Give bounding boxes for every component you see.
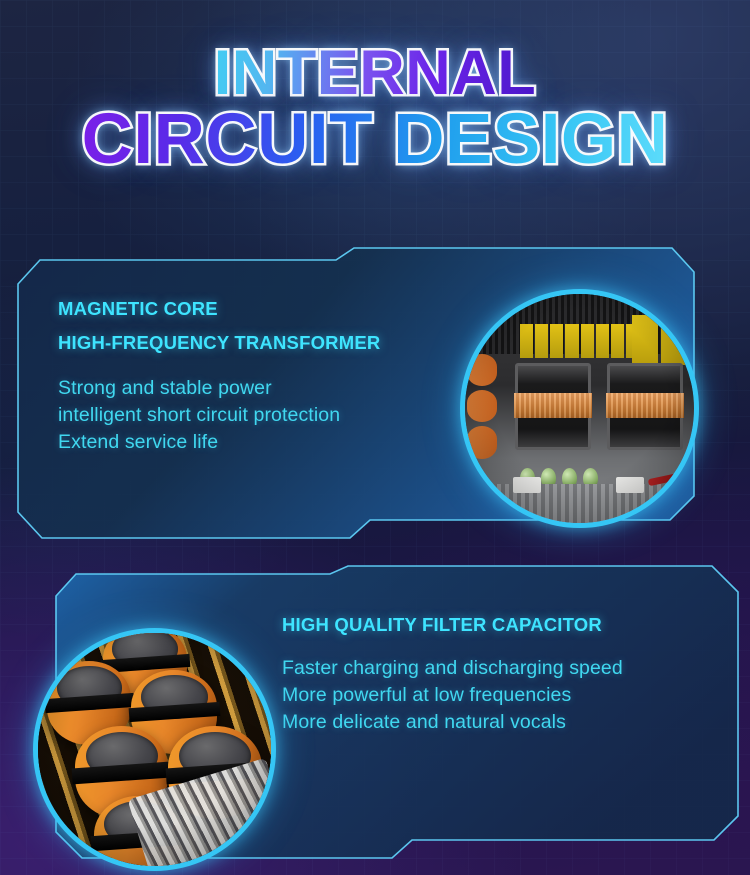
capacitor-photo	[38, 633, 271, 866]
page-title: INTERNAL INTERNAL CIRCUIT DESIGN CIRCUIT…	[0, 44, 750, 173]
title-line-1-text: INTERNAL	[214, 44, 536, 104]
capacitor-bullet-3: More delicate and natural vocals	[282, 709, 722, 736]
title-line-2: CIRCUIT DESIGN CIRCUIT DESIGN	[0, 106, 750, 173]
transformer-heading-1: MAGNETIC CORE	[58, 298, 488, 320]
transformer-bullets: Strong and stable power intelligent shor…	[58, 375, 488, 456]
transformer-photo-image	[465, 294, 694, 523]
transformer-heading-2: HIGH-FREQUENCY TRANSFORMER	[58, 332, 488, 354]
title-line-1: INTERNAL INTERNAL	[0, 44, 750, 104]
transformer-bullet-2: intelligent short circuit protection	[58, 402, 488, 429]
transformer-bullet-3: Extend service life	[58, 429, 488, 456]
capacitor-photo-image	[38, 633, 271, 866]
capacitor-bullet-1: Faster charging and discharging speed	[282, 655, 722, 682]
capacitor-heading-1: HIGH QUALITY FILTER CAPACITOR	[282, 614, 722, 636]
transformer-photo	[465, 294, 694, 523]
capacitor-bullet-2: More powerful at low frequencies	[282, 682, 722, 709]
title-line-2-text: CIRCUIT DESIGN	[82, 106, 669, 173]
transformer-bullet-1: Strong and stable power	[58, 375, 488, 402]
capacitor-bullets: Faster charging and discharging speed Mo…	[282, 655, 722, 736]
transformer-content: MAGNETIC CORE HIGH-FREQUENCY TRANSFORMER…	[58, 298, 488, 456]
capacitor-content: HIGH QUALITY FILTER CAPACITOR Faster cha…	[282, 614, 722, 736]
